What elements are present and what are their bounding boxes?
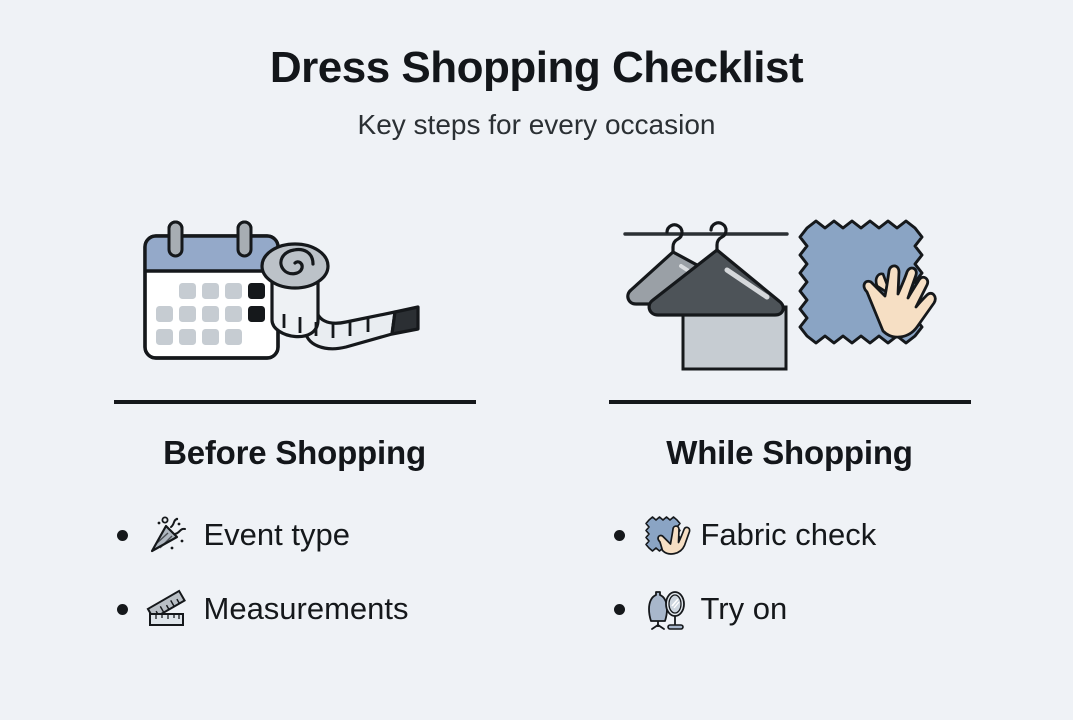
checklist-before-shopping: Event type — [117, 498, 479, 646]
bullet-dot — [614, 530, 625, 541]
list-item[interactable]: Fabric check — [614, 498, 976, 572]
checklist-while-shopping: Fabric check — [614, 498, 976, 646]
bullet-dot — [614, 604, 625, 615]
section-divider-left — [114, 400, 476, 404]
section-heading-while-shopping: While Shopping — [609, 434, 971, 472]
list-item-label: Measurements — [204, 591, 409, 627]
list-item[interactable]: Try on — [614, 572, 976, 646]
hangers-fabric-illustration — [615, 214, 965, 379]
page-subtitle: Key steps for every occasion — [0, 110, 1073, 141]
illustration-calendar-and-measuring-tape — [53, 208, 537, 384]
calendar-icon — [145, 222, 278, 358]
mirror-part — [666, 592, 684, 629]
columns-container: Before Shopping — [0, 208, 1073, 662]
list-item[interactable]: Event type — [117, 498, 479, 572]
list-item-label: Event type — [204, 517, 350, 553]
list-item[interactable]: Measurements — [117, 572, 479, 646]
fabric-swatch-hand-icon — [800, 221, 935, 343]
page-title: Dress Shopping Checklist — [0, 44, 1073, 92]
fabric-swatch-icon — [641, 512, 687, 558]
header: Dress Shopping Checklist Key steps for e… — [0, 44, 1073, 140]
calendar-tape-illustration — [130, 216, 460, 376]
dress-form-mirror-icon — [641, 586, 687, 632]
column-while-shopping: While Shopping Fabric check — [537, 208, 1033, 662]
party-popper-icon — [144, 512, 190, 558]
illustration-hangers-and-fabric — [547, 208, 1033, 384]
section-heading-before-shopping: Before Shopping — [114, 434, 476, 472]
column-before-shopping: Before Shopping — [41, 208, 537, 662]
bullet-dot — [117, 530, 128, 541]
dress-form-part — [649, 592, 667, 629]
list-item-label: Fabric check — [701, 517, 877, 553]
list-item-label: Try on — [701, 591, 788, 627]
measuring-tape-icon — [262, 244, 418, 349]
infographic-page: Dress Shopping Checklist Key steps for e… — [0, 0, 1073, 720]
bullet-dot — [117, 604, 128, 615]
section-divider-right — [609, 400, 971, 404]
ruler-icon — [144, 586, 190, 632]
